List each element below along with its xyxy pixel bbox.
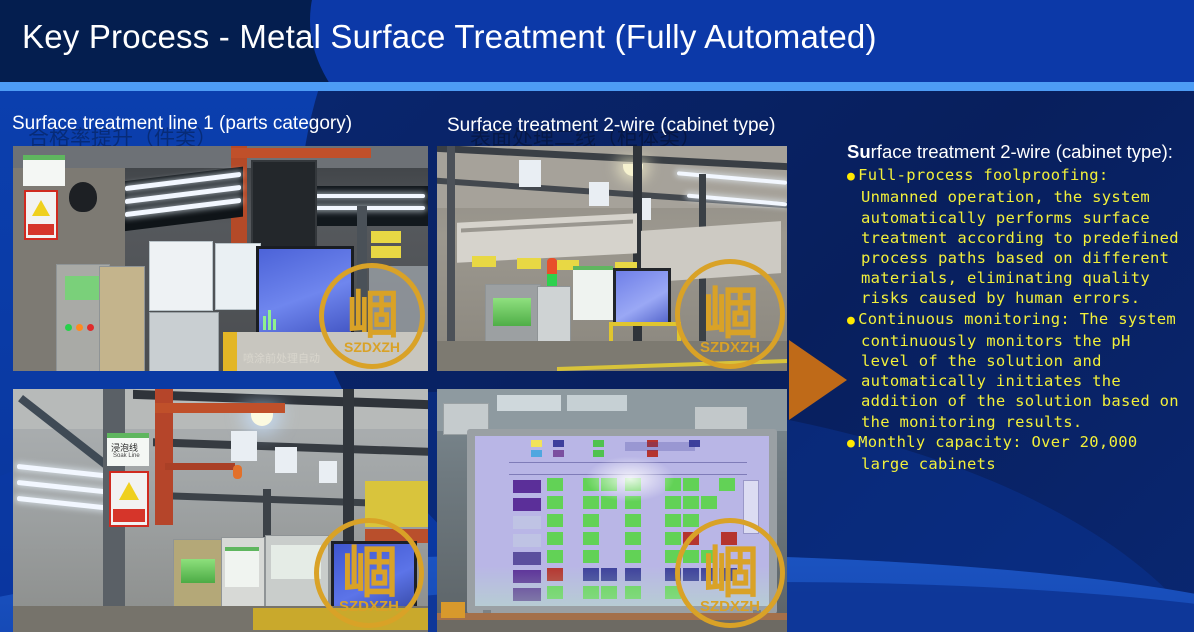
status-cell-ok bbox=[625, 514, 641, 527]
process-info-board-1 bbox=[149, 241, 213, 311]
yellow-label bbox=[472, 256, 496, 267]
status-cell-ok bbox=[547, 532, 563, 545]
process-info-board-2 bbox=[215, 243, 261, 310]
hmi-touchscreen[interactable] bbox=[65, 276, 99, 300]
monitor-bar bbox=[263, 316, 266, 330]
description-bullet-list: Full-process foolproofing: Unmanned oper… bbox=[847, 165, 1187, 474]
warning-triangle-icon bbox=[119, 482, 139, 500]
schedule-board bbox=[149, 312, 219, 371]
status-cell-ok bbox=[625, 532, 641, 545]
hmi-touchscreen[interactable] bbox=[181, 559, 215, 583]
soak-line-sign: 浸泡线 Soak Line bbox=[107, 433, 149, 466]
window bbox=[567, 395, 627, 411]
process-monitor-screen[interactable] bbox=[613, 268, 671, 326]
legend-swatch bbox=[531, 440, 542, 447]
status-cell-ok bbox=[665, 514, 681, 527]
caption-surface-2-wire: Surface treatment 2-wire (cabinet type) bbox=[447, 115, 775, 137]
row-label bbox=[513, 480, 541, 493]
screen-glare bbox=[585, 456, 675, 502]
legend-swatch bbox=[593, 440, 604, 447]
warning-sign bbox=[24, 190, 58, 240]
auxiliary-cabinet bbox=[99, 266, 145, 371]
status-cell-ok bbox=[665, 532, 681, 545]
warning-sign-text bbox=[113, 509, 145, 522]
hmi-touchscreen[interactable] bbox=[493, 298, 531, 326]
heading-rest: rface treatment 2-wire (cabinet type): bbox=[871, 141, 1173, 162]
warning-sign bbox=[109, 471, 149, 527]
legend-swatch bbox=[553, 450, 564, 457]
soak-line-sign bbox=[23, 155, 65, 186]
yellow-label bbox=[371, 231, 401, 243]
photo-bottom-left[interactable]: 浸泡线 Soak Line 崓 SZ bbox=[13, 389, 428, 632]
row-label bbox=[513, 516, 541, 529]
bullet-item: Monthly capacity: Over 20,000 large cabi… bbox=[847, 432, 1187, 474]
gantry-beam bbox=[165, 463, 235, 470]
window bbox=[589, 182, 609, 206]
monitor-bar bbox=[273, 319, 276, 330]
watermark-szdxzh: 崓 SZDXZH bbox=[319, 263, 425, 369]
row-label bbox=[513, 498, 541, 511]
guard-rail bbox=[609, 322, 681, 326]
window bbox=[231, 431, 257, 461]
slide: Key Process - Metal Surface Treatment (F… bbox=[0, 0, 1194, 632]
flow-arrow-right bbox=[789, 340, 847, 420]
watermark-text: SZDXZH bbox=[680, 598, 780, 615]
watermark-szdxzh: 崓 SZDXZH bbox=[675, 259, 785, 369]
legend-swatch bbox=[553, 440, 564, 447]
gantry-beam bbox=[155, 403, 285, 413]
yellow-label bbox=[371, 246, 401, 258]
watermark-text: SZDXZH bbox=[319, 598, 419, 615]
sign-label-en: Soak Line bbox=[113, 453, 140, 459]
status-cell-ok bbox=[683, 514, 699, 527]
photo-top-right[interactable]: 崓 SZDXZH bbox=[437, 146, 787, 371]
status-cell-ok bbox=[683, 496, 699, 509]
status-cell-ok bbox=[719, 478, 735, 491]
status-cell-ok bbox=[583, 514, 599, 527]
watermark-text: SZDXZH bbox=[324, 339, 420, 355]
status-cell-ok bbox=[583, 532, 599, 545]
dashboard-title bbox=[625, 442, 695, 451]
status-cell-ok bbox=[547, 550, 563, 563]
warning-triangle-icon bbox=[32, 200, 50, 216]
watermark-szdxzh: 崓 SZDXZH bbox=[314, 518, 424, 628]
yellow-label bbox=[517, 258, 541, 269]
warning-sign-text bbox=[28, 224, 54, 235]
legend-swatch bbox=[531, 450, 542, 457]
overhead-rail bbox=[231, 148, 371, 158]
window bbox=[519, 160, 541, 187]
caption-surface-line-1: Surface treatment line 1 (parts category… bbox=[12, 113, 352, 135]
window bbox=[319, 461, 337, 483]
status-cell-ok bbox=[583, 550, 599, 563]
photo-bottom-right[interactable]: 崓 SZDXZH bbox=[437, 389, 787, 632]
steel-column bbox=[447, 146, 455, 371]
row-label bbox=[513, 552, 541, 565]
status-cell-ok bbox=[683, 478, 699, 491]
description-heading: Surface treatment 2-wire (cabinet type): bbox=[847, 140, 1187, 163]
wall-fan bbox=[69, 182, 97, 212]
watermark-szdxzh: 崓 SZDXZH bbox=[675, 518, 785, 628]
status-cell-ok bbox=[625, 550, 641, 563]
process-info-board bbox=[573, 266, 613, 320]
watermark-text: SZDXZH bbox=[680, 339, 780, 356]
machine-edge-marker bbox=[223, 332, 237, 371]
monitor-bar bbox=[268, 310, 271, 330]
window bbox=[497, 395, 561, 411]
status-cell-ok bbox=[547, 514, 563, 527]
indicator-light-amber bbox=[76, 324, 83, 331]
status-cell-ok bbox=[701, 496, 717, 509]
bullet-item: Continuous monitoring: The system contin… bbox=[847, 309, 1187, 432]
light-tube bbox=[305, 194, 425, 198]
bullet-item: Full-process foolproofing: Unmanned oper… bbox=[847, 165, 1187, 308]
process-info-board bbox=[225, 547, 259, 587]
floor-object bbox=[441, 602, 465, 618]
gantry-indicator bbox=[233, 465, 242, 479]
row-label bbox=[513, 534, 541, 547]
indicator-light-red bbox=[87, 324, 94, 331]
header-bar: Key Process - Metal Surface Treatment (F… bbox=[0, 0, 1194, 82]
page-title: Key Process - Metal Surface Treatment (F… bbox=[22, 18, 877, 56]
indicator-light-green bbox=[65, 324, 72, 331]
header-divider-rule bbox=[0, 82, 1194, 91]
window bbox=[275, 447, 297, 473]
status-cell-ok bbox=[547, 478, 563, 491]
photo-top-left[interactable]: 喷涂前处理自动 崓 SZDXZH bbox=[13, 146, 428, 371]
heading-bold-prefix: Su bbox=[847, 141, 871, 162]
description-panel: Surface treatment 2-wire (cabinet type):… bbox=[847, 140, 1187, 474]
status-cell-ok bbox=[547, 496, 563, 509]
